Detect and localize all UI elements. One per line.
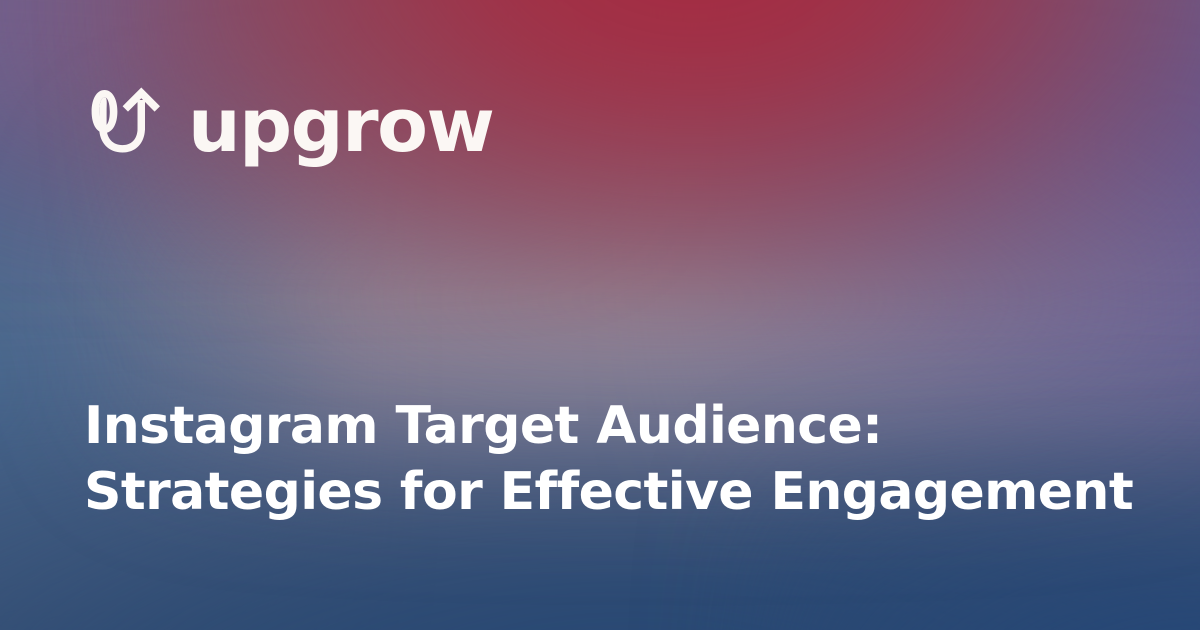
- headline-line-2: Strategies for Effective Engagement: [84, 459, 1144, 526]
- headline-line-1: Instagram Target Audience:: [84, 393, 1144, 460]
- card-headline: Instagram Target Audience: Strategies fo…: [84, 393, 1144, 526]
- upgrow-arrow-logo-icon: [84, 84, 170, 164]
- brand-wordmark: upgrow: [188, 89, 493, 163]
- social-share-card: upgrow Instagram Target Audience: Strate…: [0, 0, 1200, 630]
- brand-logo-lockup[interactable]: upgrow: [84, 84, 493, 164]
- card-content: upgrow Instagram Target Audience: Strate…: [0, 0, 1200, 630]
